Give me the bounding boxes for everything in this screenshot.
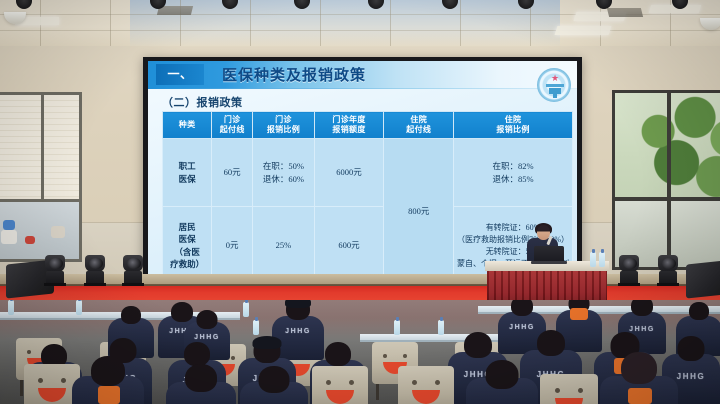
slide-title-rule — [148, 88, 577, 89]
column-header-kind: 种类 — [163, 112, 212, 139]
chair-smile-icon — [326, 390, 354, 404]
water-bottle — [438, 320, 444, 335]
table-header-row: 种类 门诊 起付线 门诊 报销比例 门诊年度 报销额度 — [163, 112, 573, 139]
cell-kind: 居民 医保 （含医 疗救助） — [163, 207, 212, 282]
window-with-trees — [612, 90, 720, 270]
column-header-outpatient-deductible: 门诊 起付线 — [212, 112, 253, 139]
cell-outpatient-ratio: 25% — [253, 207, 315, 282]
chair-eye-icon — [403, 354, 407, 358]
smiley-face-chair — [540, 374, 598, 404]
cell-kind: 职工 医保 — [163, 139, 212, 207]
reimbursement-policy-table: 种类 门诊 起付线 门诊 报销比例 门诊年度 报销额度 — [162, 111, 573, 281]
window-mullion — [667, 93, 671, 267]
water-bottle — [394, 320, 400, 335]
ceiling-light-panel — [555, 26, 612, 35]
moving-head-light — [618, 255, 640, 285]
moving-head-light — [122, 255, 144, 285]
smiley-face-chair — [398, 366, 454, 404]
cell-outpatient-cap: 6000元 — [314, 139, 384, 207]
audience-member — [72, 358, 144, 404]
window-blind — [0, 95, 79, 197]
chair-eye-icon — [38, 378, 43, 383]
water-bottle — [253, 320, 259, 335]
smiley-face-chair — [312, 366, 368, 404]
table-row: 职工 医保 60元 在职：50% 退休：60% 6000元 800元 在职：82… — [163, 139, 573, 207]
window-with-blinds — [0, 92, 82, 262]
chair-eye-icon — [61, 378, 66, 383]
window-outside-view — [0, 202, 79, 262]
moving-head-light — [44, 255, 66, 285]
chair-eye-icon — [349, 380, 354, 385]
audience-member — [166, 366, 236, 404]
ceiling-tile-grid — [0, 0, 720, 46]
chair-eye-icon — [231, 356, 235, 360]
cell-inpatient-deductible: 800元 — [384, 139, 454, 282]
chair-smile-icon — [38, 388, 66, 402]
slide-section-number: 一、 — [156, 64, 204, 85]
cell-outpatient-ratio: 在职：50% 退休：60% — [253, 139, 315, 207]
column-header-outpatient-ratio: 门诊 报销比例 — [253, 112, 315, 139]
water-bottle — [8, 300, 14, 315]
audience-member — [240, 368, 308, 404]
audience-member — [600, 356, 678, 404]
presentation-slide: 一、 医保种类及报销政策 ★ （二）报销政策 种类 — [148, 61, 577, 281]
slide-title: 医保种类及报销政策 — [222, 64, 366, 85]
cell-outpatient-deductible: 60元 — [212, 139, 253, 207]
ac-vent — [607, 8, 643, 17]
chair-smile-icon — [412, 390, 440, 404]
water-bottle — [590, 252, 596, 267]
audience-area: JHHG JHHG JHHG JHHG JHHG — [0, 300, 720, 404]
presenter-laptop — [534, 246, 564, 263]
column-header-outpatient-cap: 门诊年度 报销额度 — [314, 112, 384, 139]
ceiling — [0, 0, 720, 46]
institution-emblem-icon: ★ — [537, 68, 571, 102]
chair-eye-icon — [383, 354, 387, 358]
water-bottle — [76, 300, 82, 315]
audience-member — [466, 362, 538, 404]
lecture-hall-scene: 一、 医保种类及报销政策 ★ （二）报销政策 种类 — [0, 0, 720, 404]
chair-eye-icon — [326, 380, 331, 385]
water-bottle — [599, 252, 605, 267]
column-header-inpatient-deductible: 住院 起付线 — [384, 112, 454, 139]
column-header-inpatient-ratio: 住院 报销比例 — [454, 112, 573, 139]
cell-outpatient-cap: 600元 — [314, 207, 384, 282]
slide-subtitle: （二）报销政策 — [162, 94, 243, 110]
chair-eye-icon — [555, 388, 560, 393]
stage-speaker — [686, 259, 720, 298]
chair-eye-icon — [435, 380, 440, 385]
moving-head-light — [84, 255, 106, 285]
water-bottle — [243, 302, 249, 317]
projection-screen: 一、 医保种类及报销政策 ★ （二）报销政策 种类 — [143, 57, 582, 286]
cell-outpatient-deductible: 0元 — [212, 207, 253, 282]
star-icon: ★ — [551, 73, 559, 84]
cell-inpatient-ratio: 在职：82% 退休：85% — [454, 139, 573, 207]
chair-eye-icon — [412, 380, 417, 385]
moving-head-light — [657, 255, 679, 285]
chair-smile-icon — [555, 398, 583, 404]
chair-eye-icon — [578, 388, 583, 393]
